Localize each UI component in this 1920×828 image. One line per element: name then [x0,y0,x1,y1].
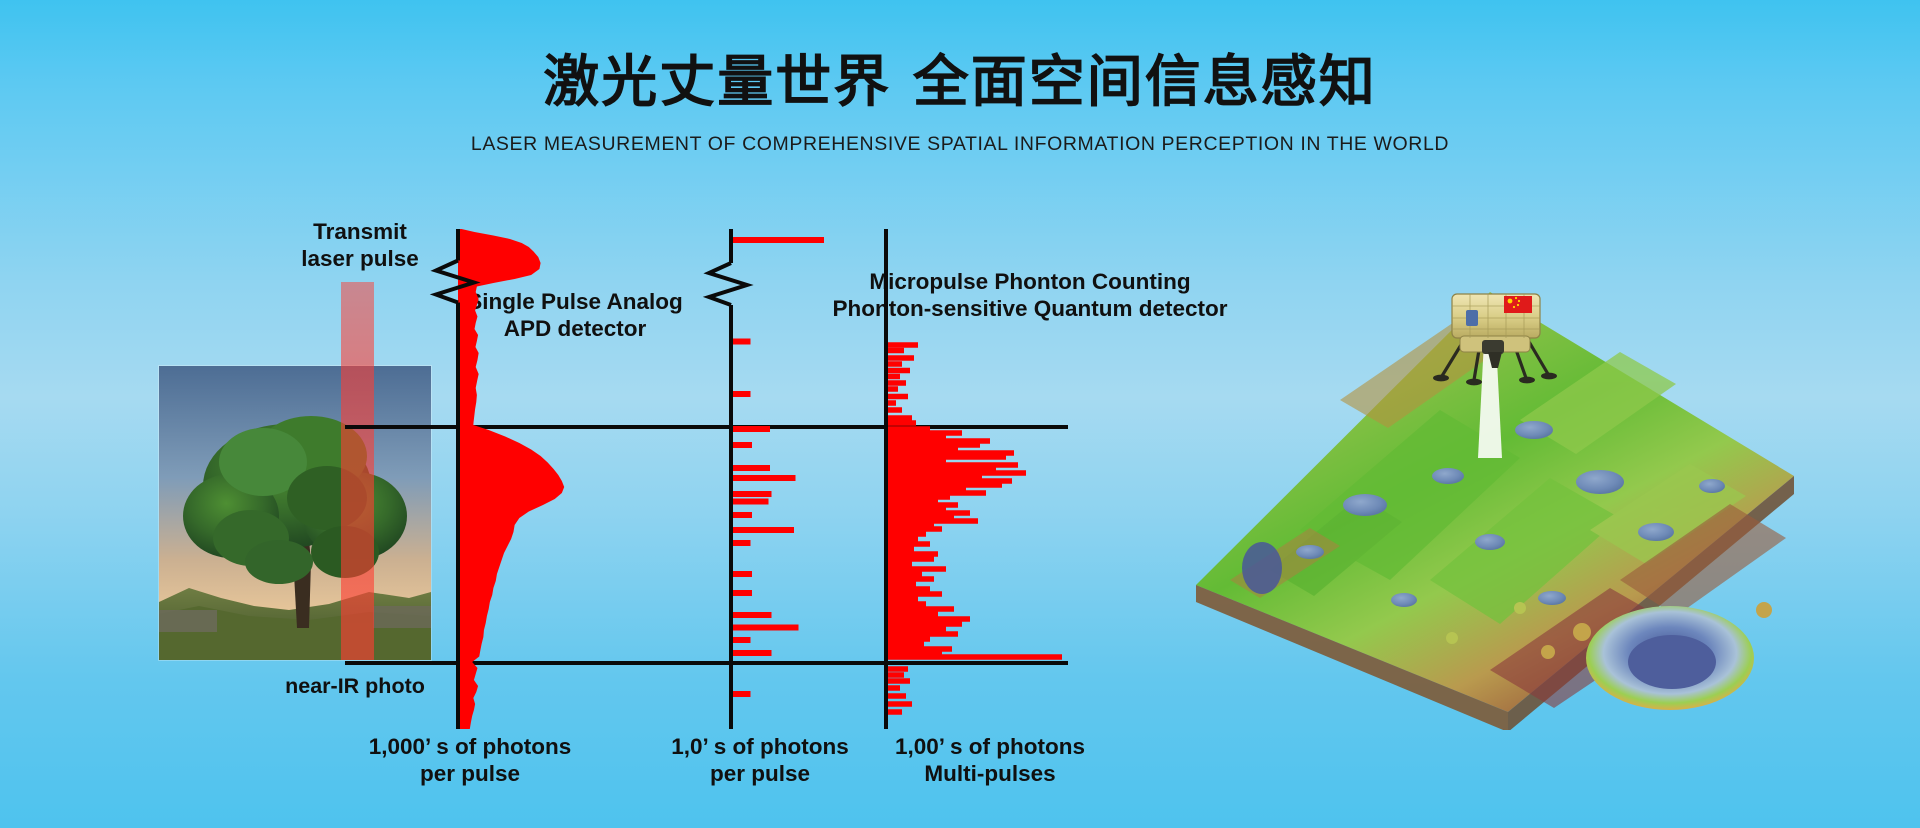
lunar-lander-icon [1430,288,1560,403]
photon-bar [886,709,902,715]
page-title: 激光丈量世界 全面空间信息感知 [0,52,1920,115]
chart-a-canvas [452,225,692,735]
photon-bar [731,465,770,471]
label-near-ir-photo: near-IR photo [240,673,470,699]
photon-bar [886,586,930,592]
photon-bar [886,596,918,602]
page-subtitle: LASER MEASUREMENT OF COMPREHENSIVE SPATI… [0,133,1920,156]
photon-bar [886,394,908,400]
photon-bar [886,626,946,632]
photon-bar [886,368,910,374]
photon-bar [731,527,794,533]
photon-bar [886,678,910,684]
photon-bar [886,342,918,348]
photon-bar [886,581,916,587]
photon-bar [886,551,938,557]
waveform-area [458,229,564,729]
photon-bar [886,561,912,567]
photon-bar [886,693,906,699]
photon-bar [886,348,904,354]
caption-chart-multi-pulse: 1,00’ s of photons Multi-pulses [855,733,1125,788]
photon-bar [886,531,926,537]
photon-bar [731,499,769,505]
photon-bar [886,536,918,542]
header: 激光丈量世界 全面空间信息感知 LASER MEASUREMENT OF COM… [0,52,1920,156]
photon-bar [886,646,952,652]
photon-bar [886,355,914,361]
photon-bar [731,426,770,432]
tree-photo-illustration [159,366,431,660]
chart-b-canvas [725,225,895,735]
photon-bar [731,571,752,577]
photon-bar [886,654,1062,660]
photon-bar [886,374,900,380]
photon-bar [731,691,751,697]
photon-bar [886,606,954,612]
photon-bar [886,407,902,413]
label-transmit-laser-pulse: Transmit laser pulse [255,218,465,273]
chart-photon-counting-multi [880,225,1090,735]
photon-bar [731,475,796,481]
photon-bar [886,672,904,678]
photon-bar [886,636,930,642]
chart-photon-counting-low [725,225,895,735]
photon-bar [886,415,912,421]
photon-bar [731,237,824,243]
photon-bar [886,571,922,577]
photon-bar [886,666,908,672]
near-ir-photo [159,366,431,660]
photon-bar [886,611,938,617]
photon-bar [886,566,946,572]
photon-bar [731,637,751,643]
photon-bar [731,625,799,631]
photon-bar [886,526,942,532]
photon-bar [886,641,924,647]
axis-break-zigzag [709,263,747,305]
photon-bar [886,631,958,637]
photon-bar [886,621,962,627]
photon-bar [731,339,751,345]
photon-bar [886,616,970,622]
photon-bar [886,420,916,426]
photon-bar [886,541,930,547]
photon-bar [886,591,942,597]
photon-bar [731,391,751,397]
chart-c-canvas [880,225,1090,735]
photon-bar [731,442,752,448]
photon-bar [731,590,752,596]
photon-bar [886,556,934,562]
photon-bar [886,380,906,386]
photon-bar [731,612,772,618]
photon-bar [731,512,752,518]
photon-bar [731,540,751,546]
lander-svg [1430,288,1560,403]
photon-bar [886,701,912,707]
photon-bar [731,491,772,497]
photon-bar [731,650,772,656]
photon-bar [886,601,926,607]
infographic-canvas: 激光丈量世界 全面空间信息感知 LASER MEASUREMENT OF COM… [0,0,1920,828]
photon-bar [886,361,902,367]
photon-bar [886,546,914,552]
caption-chart-analog: 1,000’ s of photons per pulse [330,733,610,788]
chart-single-pulse-analog [452,225,692,735]
photon-bar [886,576,934,582]
photon-bar [886,685,900,691]
